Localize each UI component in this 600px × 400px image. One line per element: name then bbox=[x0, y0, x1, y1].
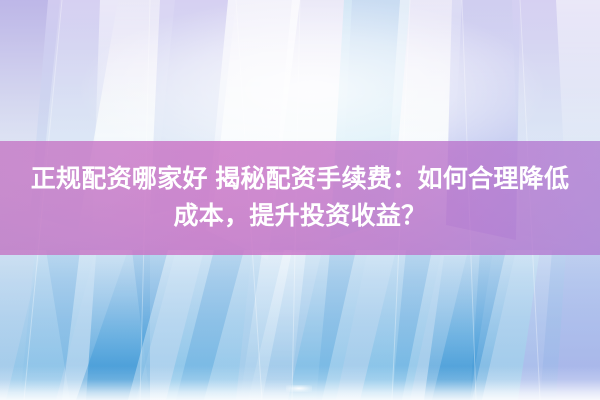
title-line-1: 正规配资哪家好 揭秘配资手续费：如何合理降低 bbox=[31, 161, 570, 198]
title-band: 正规配资哪家好 揭秘配资手续费：如何合理降低 成本，提升投资收益？ bbox=[0, 141, 600, 255]
title-line-2: 成本，提升投资收益？ bbox=[173, 198, 426, 235]
article-cover-image: 正规配资哪家好 揭秘配资手续费：如何合理降低 成本，提升投资收益？ bbox=[0, 0, 600, 400]
